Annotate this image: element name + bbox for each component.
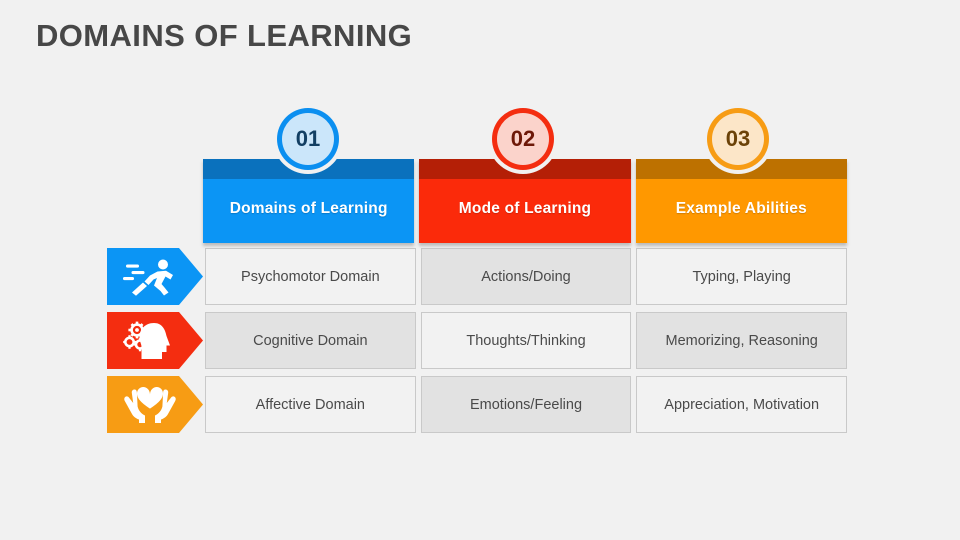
step-badge-03: 03: [707, 108, 769, 170]
cell-mode: Emotions/Feeling: [421, 376, 632, 433]
cell-domain: Cognitive Domain: [205, 312, 416, 369]
column-header-label: Domains of Learning: [230, 200, 388, 218]
table-row: Affective Domain Emotions/Feeling Apprec…: [107, 376, 847, 433]
column-header-domains: Domains of Learning: [203, 159, 414, 243]
cell-domain: Affective Domain: [205, 376, 416, 433]
cell-abilities: Typing, Playing: [636, 248, 847, 305]
head-with-gears-icon: [107, 312, 203, 369]
cell-mode: Actions/Doing: [421, 248, 632, 305]
badge-number: 02: [511, 128, 535, 150]
column-header-abilities: Example Abilities: [636, 159, 847, 243]
running-person-icon: [107, 248, 203, 305]
cell-mode: Thoughts/Thinking: [421, 312, 632, 369]
row-cells: Psychomotor Domain Actions/Doing Typing,…: [205, 248, 847, 305]
row-cells: Affective Domain Emotions/Feeling Apprec…: [205, 376, 847, 433]
page-title: DOMAINS OF LEARNING: [36, 18, 412, 54]
cell-abilities: Memorizing, Reasoning: [636, 312, 847, 369]
badge-number: 03: [726, 128, 750, 150]
column-header-mode: Mode of Learning: [419, 159, 630, 243]
table-body: Psychomotor Domain Actions/Doing Typing,…: [107, 248, 847, 440]
cell-abilities: Appreciation, Motivation: [636, 376, 847, 433]
hands-holding-heart-icon: [107, 376, 203, 433]
badge-number: 01: [296, 128, 320, 150]
step-badge-02: 02: [492, 108, 554, 170]
column-header-label: Example Abilities: [676, 200, 807, 218]
table-row: Psychomotor Domain Actions/Doing Typing,…: [107, 248, 847, 305]
slide-canvas: DOMAINS OF LEARNING 01 02 03 Domains of …: [0, 0, 960, 540]
table-row: Cognitive Domain Thoughts/Thinking Memor…: [107, 312, 847, 369]
step-badge-01: 01: [277, 108, 339, 170]
row-cells: Cognitive Domain Thoughts/Thinking Memor…: [205, 312, 847, 369]
cell-domain: Psychomotor Domain: [205, 248, 416, 305]
column-headers: Domains of Learning Mode of Learning Exa…: [203, 159, 847, 243]
column-header-label: Mode of Learning: [459, 200, 591, 218]
